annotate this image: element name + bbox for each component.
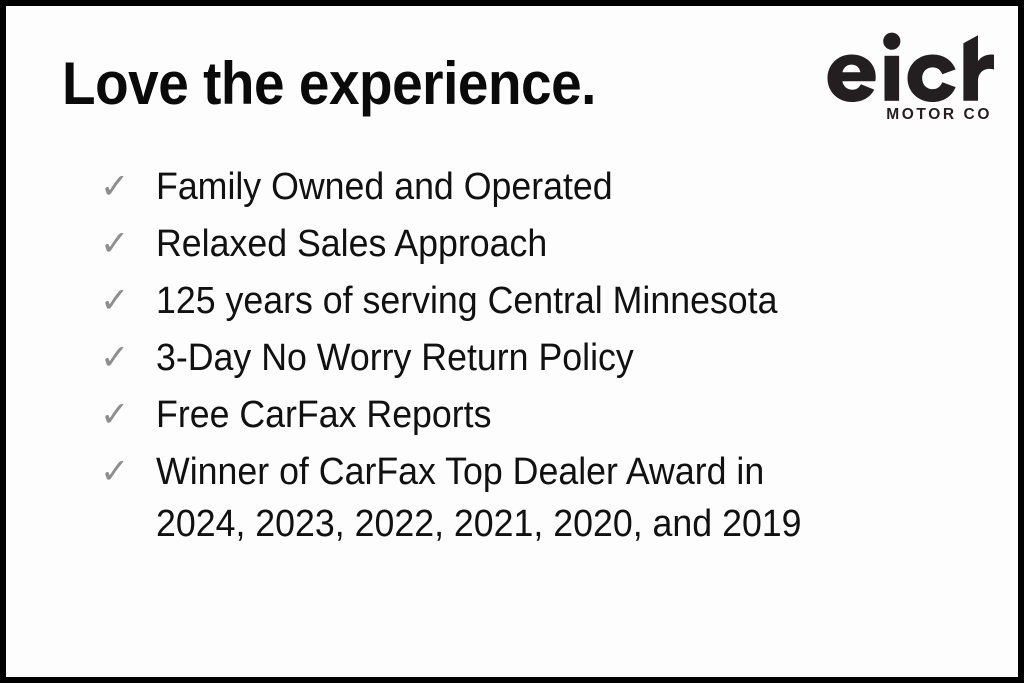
list-item: ✓ Family Owned and Operated	[100, 161, 988, 213]
eich-wordmark-icon	[824, 32, 994, 102]
page-title: Love the experience.	[62, 52, 596, 116]
list-item-label: Free CarFax Reports	[156, 389, 938, 441]
logo-subtitle: MOTOR CO	[824, 106, 992, 124]
eich-motor-co-logo: MOTOR CO	[824, 32, 994, 124]
feature-list: ✓ Family Owned and Operated ✓ Relaxed Sa…	[100, 161, 988, 555]
list-item: ✓ 3-Day No Worry Return Policy	[100, 332, 988, 384]
list-item-label: 3-Day No Worry Return Policy	[156, 332, 938, 384]
dealership-promo-card: MOTOR CO Love the experience. ✓ Family O…	[0, 0, 1024, 683]
list-item: ✓ Winner of CarFax Top Dealer Award in 2…	[100, 446, 988, 550]
check-icon: ✓	[100, 275, 156, 327]
check-icon: ✓	[100, 446, 156, 498]
list-item: ✓ Relaxed Sales Approach	[100, 218, 988, 270]
check-icon: ✓	[100, 218, 156, 270]
check-icon: ✓	[100, 161, 156, 213]
check-icon: ✓	[100, 389, 156, 441]
list-item-label: 125 years of serving Central Minnesota	[156, 275, 938, 327]
check-icon: ✓	[100, 332, 156, 384]
list-item-label: Relaxed Sales Approach	[156, 218, 938, 270]
list-item: ✓ 125 years of serving Central Minnesota	[100, 275, 988, 327]
list-item: ✓ Free CarFax Reports	[100, 389, 988, 441]
list-item-label: Winner of CarFax Top Dealer Award in 202…	[156, 446, 938, 550]
list-item-label: Family Owned and Operated	[156, 161, 938, 213]
